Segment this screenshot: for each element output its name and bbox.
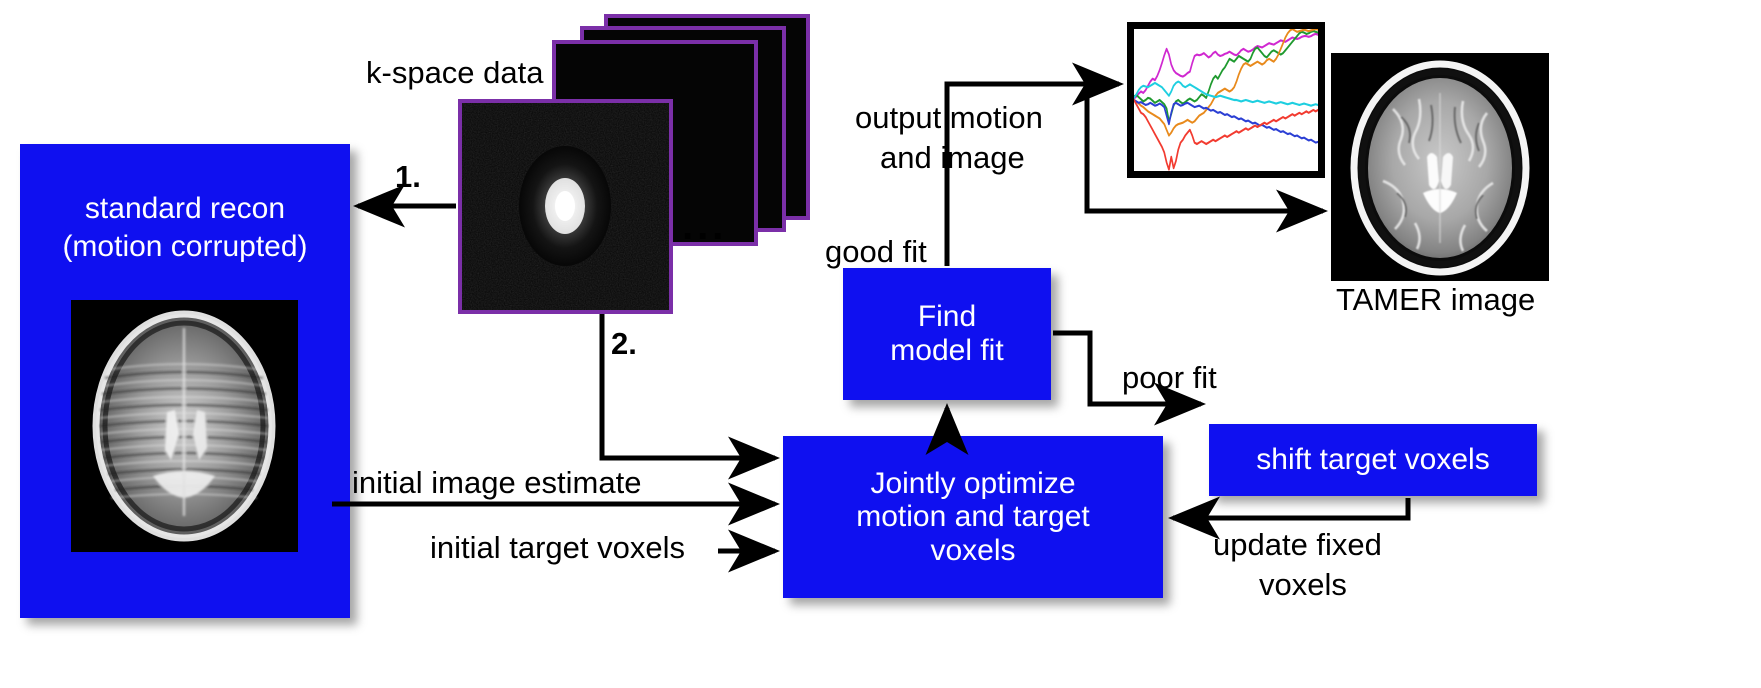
- jointly-optimize-line3: voxels: [930, 534, 1015, 568]
- step-1-label: 1.: [395, 160, 421, 194]
- find-model-fit-box[interactable]: Find model fit: [843, 268, 1051, 400]
- shift-target-voxels-box[interactable]: shift target voxels: [1209, 424, 1537, 496]
- tamer-brain-image: [1331, 53, 1549, 281]
- standard-recon-line1: standard recon: [85, 192, 285, 226]
- kspace-frame-front[interactable]: [458, 99, 673, 314]
- diagram-canvas: standard recon (motion corrupted): [0, 0, 1761, 688]
- update-fixed-voxels-label-line1: update fixed: [1213, 528, 1382, 562]
- jointly-optimize-line1: Jointly optimize: [870, 467, 1075, 501]
- jointly-optimize-box[interactable]: Jointly optimize motion and target voxel…: [783, 436, 1163, 598]
- jointly-optimize-line2: motion and target: [856, 500, 1089, 534]
- initial-target-voxels-label: initial target voxels: [430, 531, 685, 565]
- output-motion-label-line2: and image: [880, 141, 1025, 175]
- arrow-update-fixed-voxels-to-jointly-optimize: [1173, 498, 1408, 518]
- kspace-image-svg: [462, 103, 669, 310]
- kspace-data-label: k-space data: [366, 56, 544, 90]
- initial-image-estimate-label: initial image estimate: [352, 466, 641, 500]
- poor-fit-label: poor fit: [1122, 361, 1217, 395]
- shift-target-voxels-label: shift target voxels: [1256, 443, 1489, 477]
- motion-plot-svg: [1134, 29, 1318, 171]
- output-motion-plot[interactable]: [1127, 22, 1325, 178]
- motion-corrupted-brain-image: [71, 300, 298, 552]
- update-fixed-voxels-label-line2: voxels: [1259, 568, 1347, 602]
- motion-corrupted-brain-svg: [71, 300, 298, 552]
- step-2-label: 2.: [611, 327, 637, 361]
- tamer-brain-svg: [1331, 53, 1549, 281]
- standard-recon-line2: (motion corrupted): [62, 230, 307, 264]
- kspace-ellipsis-label: ...: [682, 204, 727, 248]
- trace-red: [1134, 100, 1318, 170]
- trace-green: [1134, 31, 1318, 121]
- output-motion-label-line1: output motion: [855, 101, 1043, 135]
- find-model-fit-line1: Find: [918, 300, 976, 334]
- find-model-fit-line2: model fit: [890, 334, 1003, 368]
- tamer-image-caption: TAMER image: [1336, 283, 1535, 317]
- good-fit-label: good fit: [825, 235, 927, 269]
